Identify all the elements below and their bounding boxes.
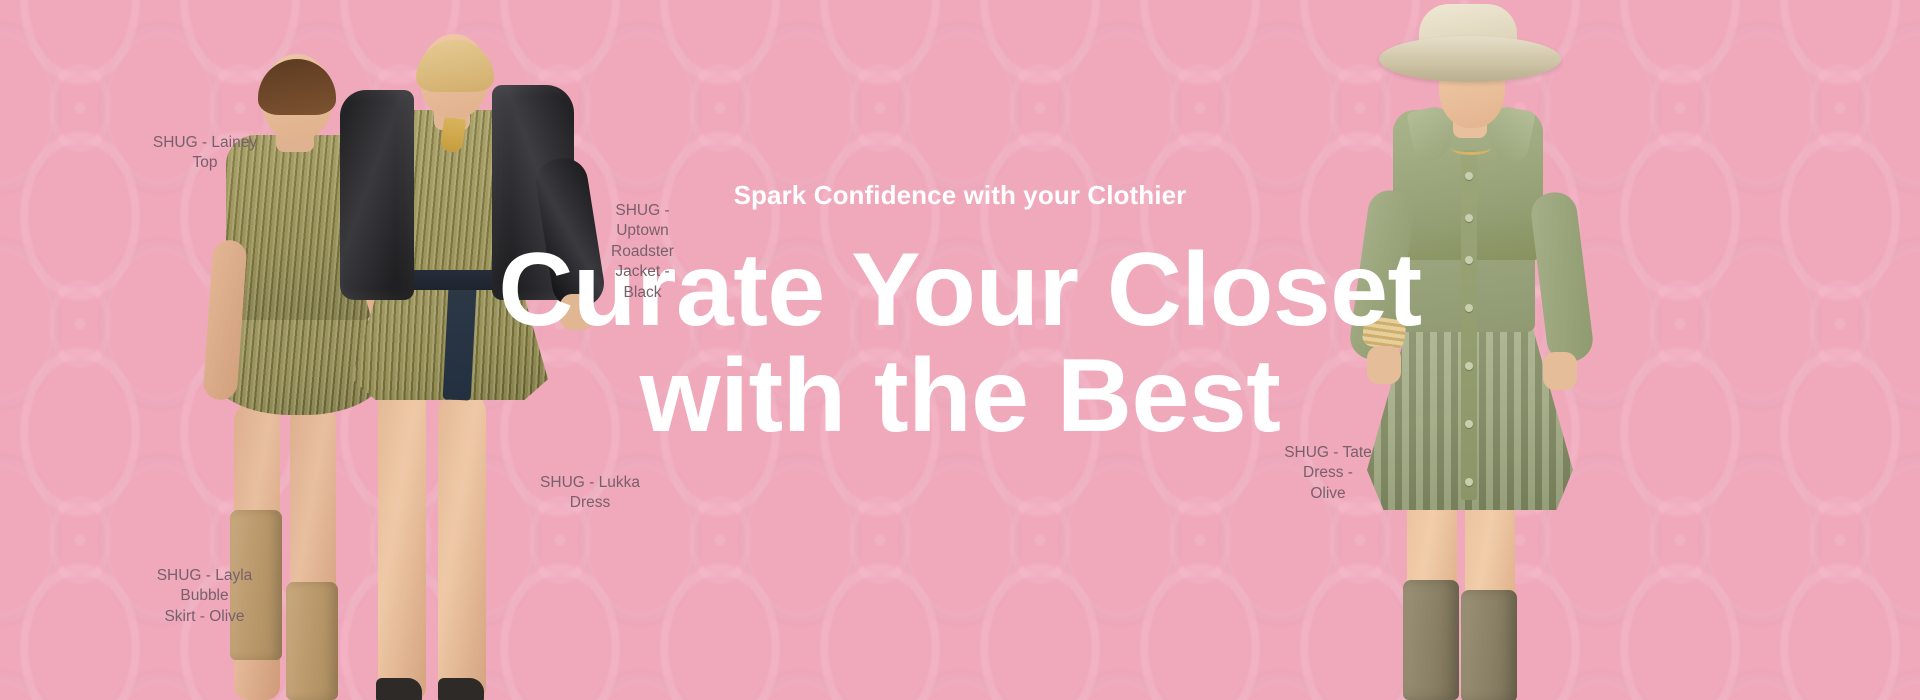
product-tag-tate-dress[interactable]: SHUG - Tate Dress - Olive xyxy=(1268,443,1388,504)
dress-button xyxy=(1465,304,1473,312)
hair-front xyxy=(258,59,336,115)
model-right xyxy=(1365,0,1575,700)
gold-necklace xyxy=(1451,141,1491,155)
product-tag-lukka-dress[interactable]: SHUG - Lukka Dress xyxy=(530,473,650,514)
product-tag-lainey-top[interactable]: SHUG - Lainey Top xyxy=(150,133,260,174)
leg-left xyxy=(378,380,426,700)
product-tag-layla-skirt[interactable]: SHUG - Layla Bubble Skirt - Olive xyxy=(142,566,267,627)
shoe-left xyxy=(376,678,422,700)
hand-right xyxy=(560,294,594,330)
button-placket xyxy=(1461,150,1477,500)
leather-jacket-left-panel xyxy=(340,90,414,300)
hero-banner: Spark Confidence with your Clothier Cura… xyxy=(0,0,1920,700)
legs xyxy=(378,380,518,700)
product-tag-uptown-jacket[interactable]: SHUG - Uptown Roadster Jacket - Black xyxy=(595,201,690,303)
shoe-right xyxy=(438,678,484,700)
dress-button xyxy=(1465,478,1473,486)
hand-left xyxy=(1367,346,1401,384)
dress-button xyxy=(1465,214,1473,222)
leg-right xyxy=(438,390,486,700)
boot-right xyxy=(1461,590,1517,700)
dress-button xyxy=(1465,256,1473,264)
cowboy-hat-brim xyxy=(1379,36,1561,82)
hand-right xyxy=(1543,352,1577,390)
dress-button xyxy=(1465,172,1473,180)
boot-left xyxy=(1403,580,1459,700)
dress-button xyxy=(1465,362,1473,370)
model-blonde-jacket xyxy=(330,10,580,700)
dress-button xyxy=(1465,420,1473,428)
